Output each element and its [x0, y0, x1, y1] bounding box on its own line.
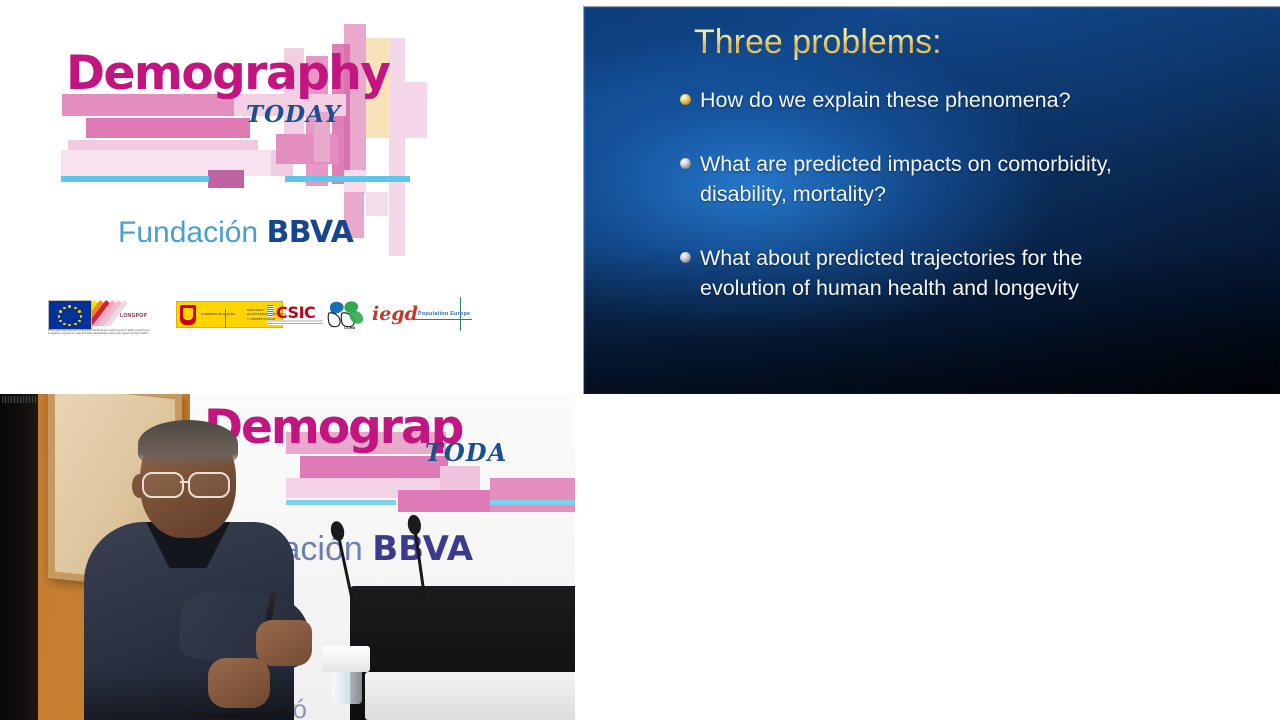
banner-cyan-rule — [490, 500, 575, 505]
sponsor-logos-row: LONGPOP This project has received fundin… — [48, 297, 478, 342]
eu-funding-caption: This project has received funding from t… — [48, 329, 152, 337]
logo-cyan-rule — [61, 176, 209, 182]
logo-bar — [208, 170, 244, 188]
silver-sphere-bullet-icon — [680, 252, 691, 263]
logo-cyan-rule — [285, 176, 410, 182]
dark-side-panel — [0, 394, 38, 720]
speaker-hand-right — [256, 620, 312, 666]
logo-bar — [389, 38, 405, 198]
screen-stage: Demography TODAY Fundación BBVA — [0, 0, 1280, 720]
bullet-text: What about predicted trajectories for th… — [700, 243, 1140, 303]
logo-bar — [366, 192, 388, 216]
list-item: What about predicted trajectories for th… — [680, 243, 1241, 303]
badge-divider — [225, 309, 226, 328]
longpop-label: LONGPOP — [120, 313, 147, 319]
speaker-hair — [138, 420, 238, 468]
silver-sphere-bullet-icon — [680, 158, 691, 169]
cchs-label: CCHS — [344, 325, 355, 330]
banner-bar — [440, 466, 480, 490]
eu-stars — [49, 301, 91, 329]
list-item: What are predicted impacts on comorbidit… — [680, 149, 1241, 209]
eu-flag-icon — [48, 300, 92, 330]
iegd-label: iegd — [372, 303, 418, 325]
ministry-lines: GOBIERNO DE ESPAÑA — [201, 312, 235, 316]
logo-subword: TODAY — [246, 101, 341, 128]
foundation-lockup: Fundación BBVA — [118, 215, 353, 250]
logo-panel: Demography TODAY Fundación BBVA — [0, 0, 575, 393]
speaker-person — [60, 422, 310, 720]
logo-wordmark: Demography — [66, 46, 389, 101]
spain-coat-of-arms-icon — [180, 305, 196, 325]
banner-subword: TODA — [425, 438, 507, 467]
csic-underline — [267, 320, 323, 325]
empty-area — [575, 394, 1280, 720]
foundation-brand: BBVA — [266, 215, 353, 250]
logo-bar — [389, 198, 405, 256]
demography-today-logo: Demography TODAY Fundación BBVA — [48, 22, 468, 277]
bullet-text: What are predicted impacts on comorbidit… — [700, 149, 1140, 209]
speaker-grille — [2, 396, 36, 403]
foundation-prefix: Fundación — [118, 216, 266, 249]
eyeglasses-icon — [140, 472, 240, 494]
slide-bullet-list: How do we explain these phenomena? What … — [680, 85, 1241, 337]
presentation-slide[interactable]: Three problems: How do we explain these … — [583, 6, 1280, 394]
list-item: How do we explain these phenomena? — [680, 85, 1241, 115]
gold-sphere-bullet-icon — [680, 94, 691, 105]
bullet-text: How do we explain these phenomena? — [700, 85, 1071, 115]
logo-bar — [405, 82, 427, 138]
logo-bar — [344, 170, 366, 194]
gov-label: GOBIERNO DE ESPAÑA — [201, 312, 235, 316]
logo-bar — [86, 118, 250, 138]
banner-foundation-brand: BBVA — [372, 529, 473, 569]
water-jug — [322, 646, 370, 672]
slide-title: Three problems: — [694, 23, 942, 62]
population-europe-label: Population Europe — [418, 311, 470, 317]
laptop — [365, 672, 575, 720]
speaker-video[interactable]: Demograp TODA Fundación BBVA Fundació — [0, 394, 575, 720]
banner-bar — [490, 478, 575, 512]
